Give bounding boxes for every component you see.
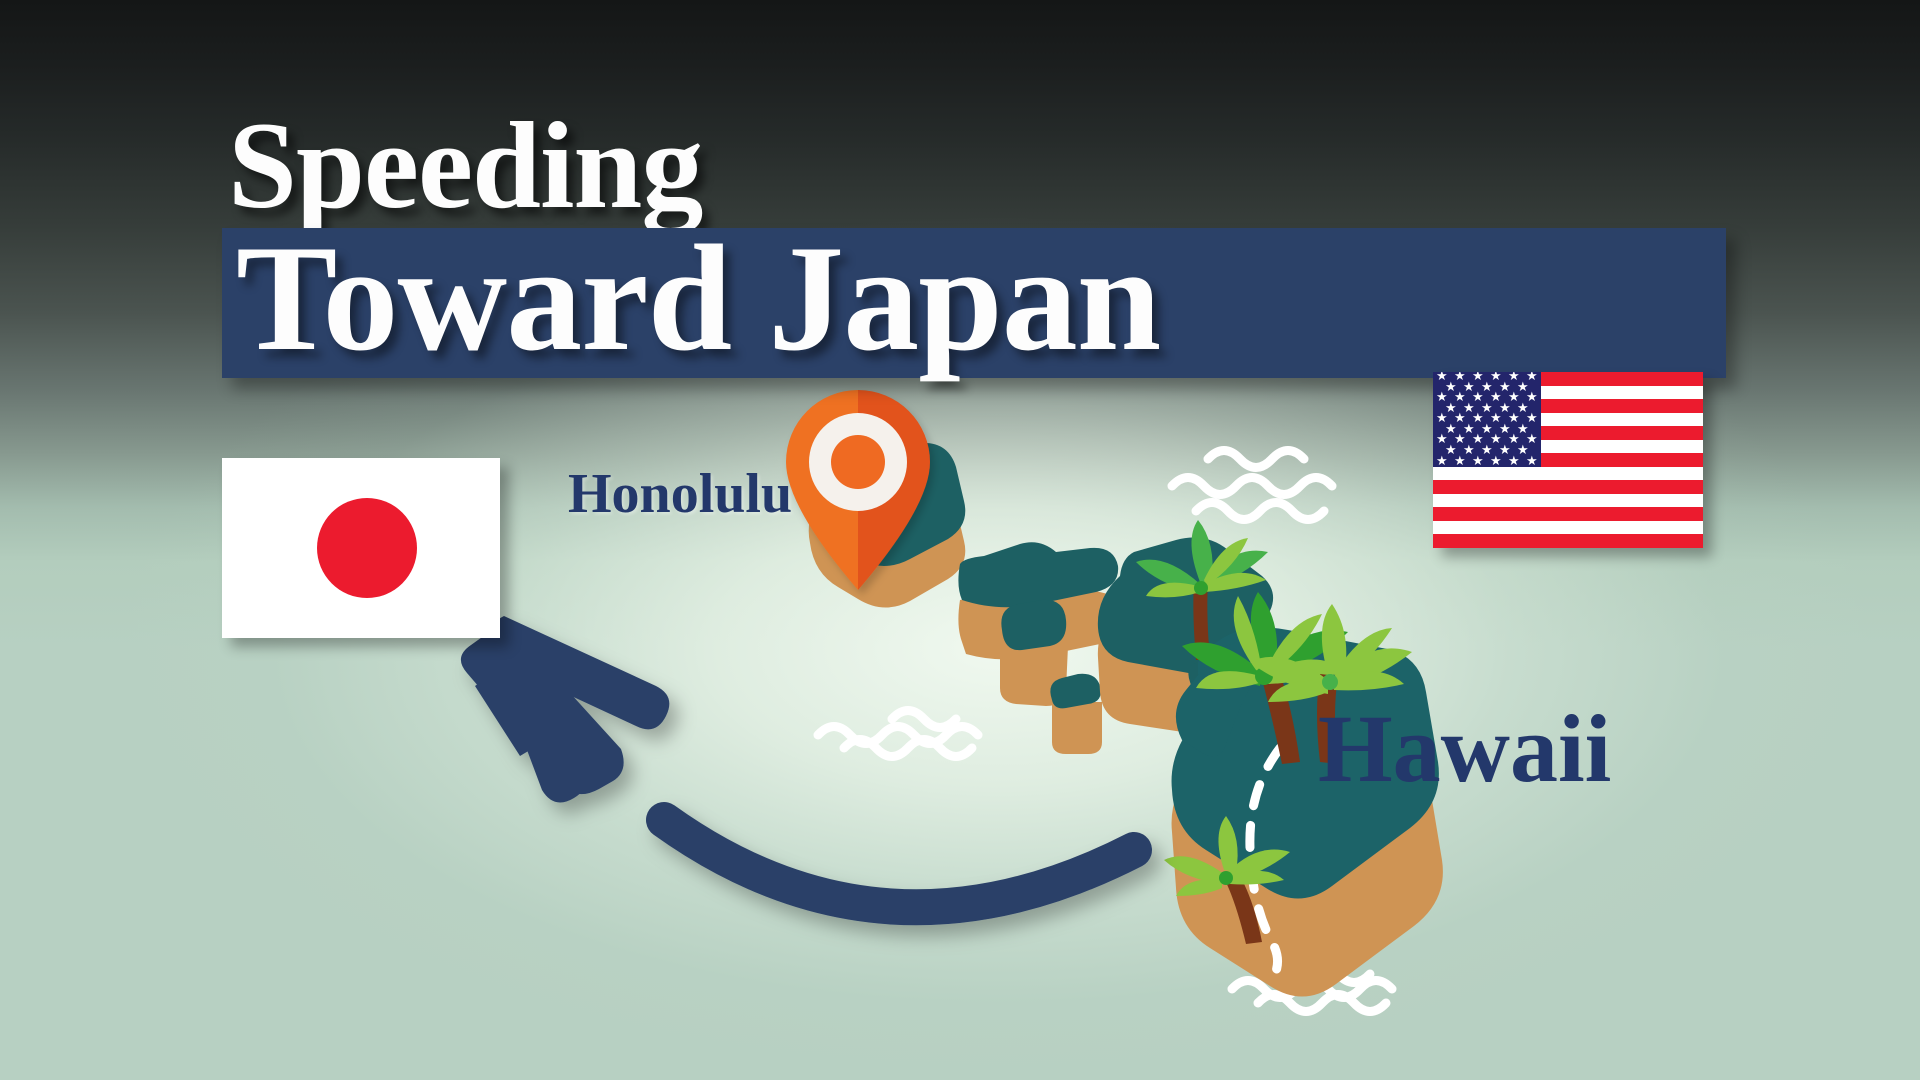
usa-flag-stripe [1433,507,1703,521]
usa-flag-star: ★ [1526,455,1538,467]
usa-flag-canton: ★★★★★★★★★★★★★★★★★★★★★★★★★★★★★★★★★★★★★★★★… [1433,372,1541,467]
usa-flag-star: ★ [1508,455,1520,467]
usa-flag: ★★★★★★★★★★★★★★★★★★★★★★★★★★★★★★★★★★★★★★★★… [1433,372,1703,548]
island-kahoolawe [1050,674,1102,754]
japan-flag-disc [317,498,417,598]
poster-canvas: Speeding Toward Japan ★★★★★★★★★★★★★★★★★★… [0,0,1920,1080]
title-line-1: Speeding [228,104,702,228]
label-hawaii: Hawaii [1318,693,1611,804]
wave-motif-top-right [1172,451,1332,520]
japan-flag [222,458,500,638]
usa-flag-star: ★ [1436,455,1448,467]
usa-flag-stripe [1433,480,1703,494]
usa-flag-star: ★ [1490,455,1502,467]
wave-motif-middle-left [818,711,978,757]
label-honolulu: Honolulu [568,462,792,526]
usa-flag-star: ★ [1454,455,1466,467]
title-line-2: Toward Japan [236,222,1160,374]
usa-flag-stripe [1433,534,1703,548]
usa-flag-star: ★ [1472,455,1484,467]
title-block: Speeding Toward Japan [0,0,1920,420]
